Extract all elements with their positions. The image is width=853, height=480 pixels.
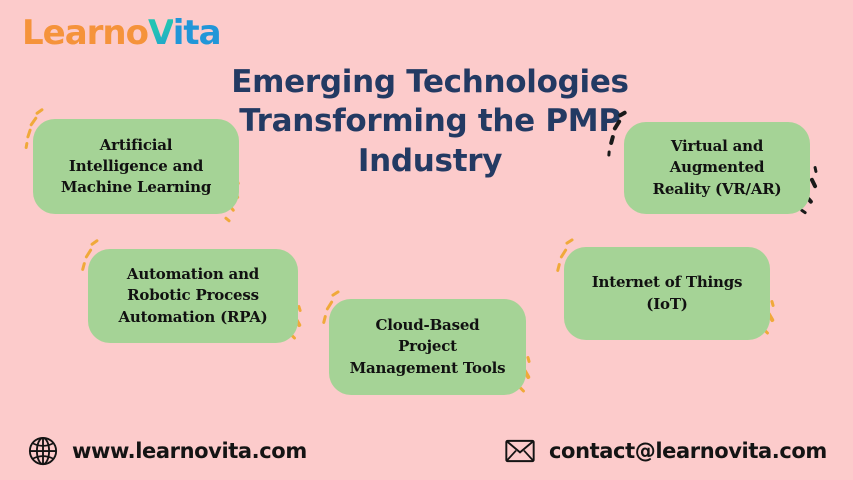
globe-icon	[28, 436, 58, 466]
tech-card-label: Internet of Things (IoT)	[592, 272, 743, 315]
learnovita-logo: LearnoVita	[22, 16, 221, 50]
tech-card-robotic-process-automation[interactable]: Automation and Robotic Process Automatio…	[88, 249, 298, 343]
website-text: www.learnovita.com	[72, 439, 307, 463]
tech-card-label: Virtual and Augmented Reality (VR/AR)	[653, 136, 782, 200]
tech-card-internet-of-things[interactable]: Internet of Things (IoT)	[564, 247, 770, 340]
logo-text-learno: Learno	[22, 13, 148, 53]
logo-text-v: V	[148, 13, 173, 53]
footer-email[interactable]: contact@learnovita.com	[505, 436, 827, 466]
logo-text-ita: ita	[173, 13, 221, 53]
tech-card-artificial-intelligence[interactable]: Artificial Intelligence and Machine Lear…	[33, 119, 239, 214]
email-text: contact@learnovita.com	[549, 439, 827, 463]
tech-card-label: Artificial Intelligence and Machine Lear…	[61, 135, 211, 199]
tech-card-virtual-augmented-reality[interactable]: Virtual and Augmented Reality (VR/AR)	[624, 122, 810, 214]
tech-card-label: Automation and Robotic Process Automatio…	[118, 264, 267, 328]
page-title: Emerging Technologies Transforming the P…	[205, 63, 655, 182]
poster-canvas: LearnoVita Emerging Technologies Transfo…	[0, 0, 853, 480]
tech-card-cloud-based-project-management[interactable]: Cloud-Based Project Management Tools	[329, 299, 526, 395]
tech-card-label: Cloud-Based Project Management Tools	[350, 315, 506, 379]
footer-website[interactable]: www.learnovita.com	[28, 436, 307, 466]
envelope-icon	[505, 436, 535, 466]
